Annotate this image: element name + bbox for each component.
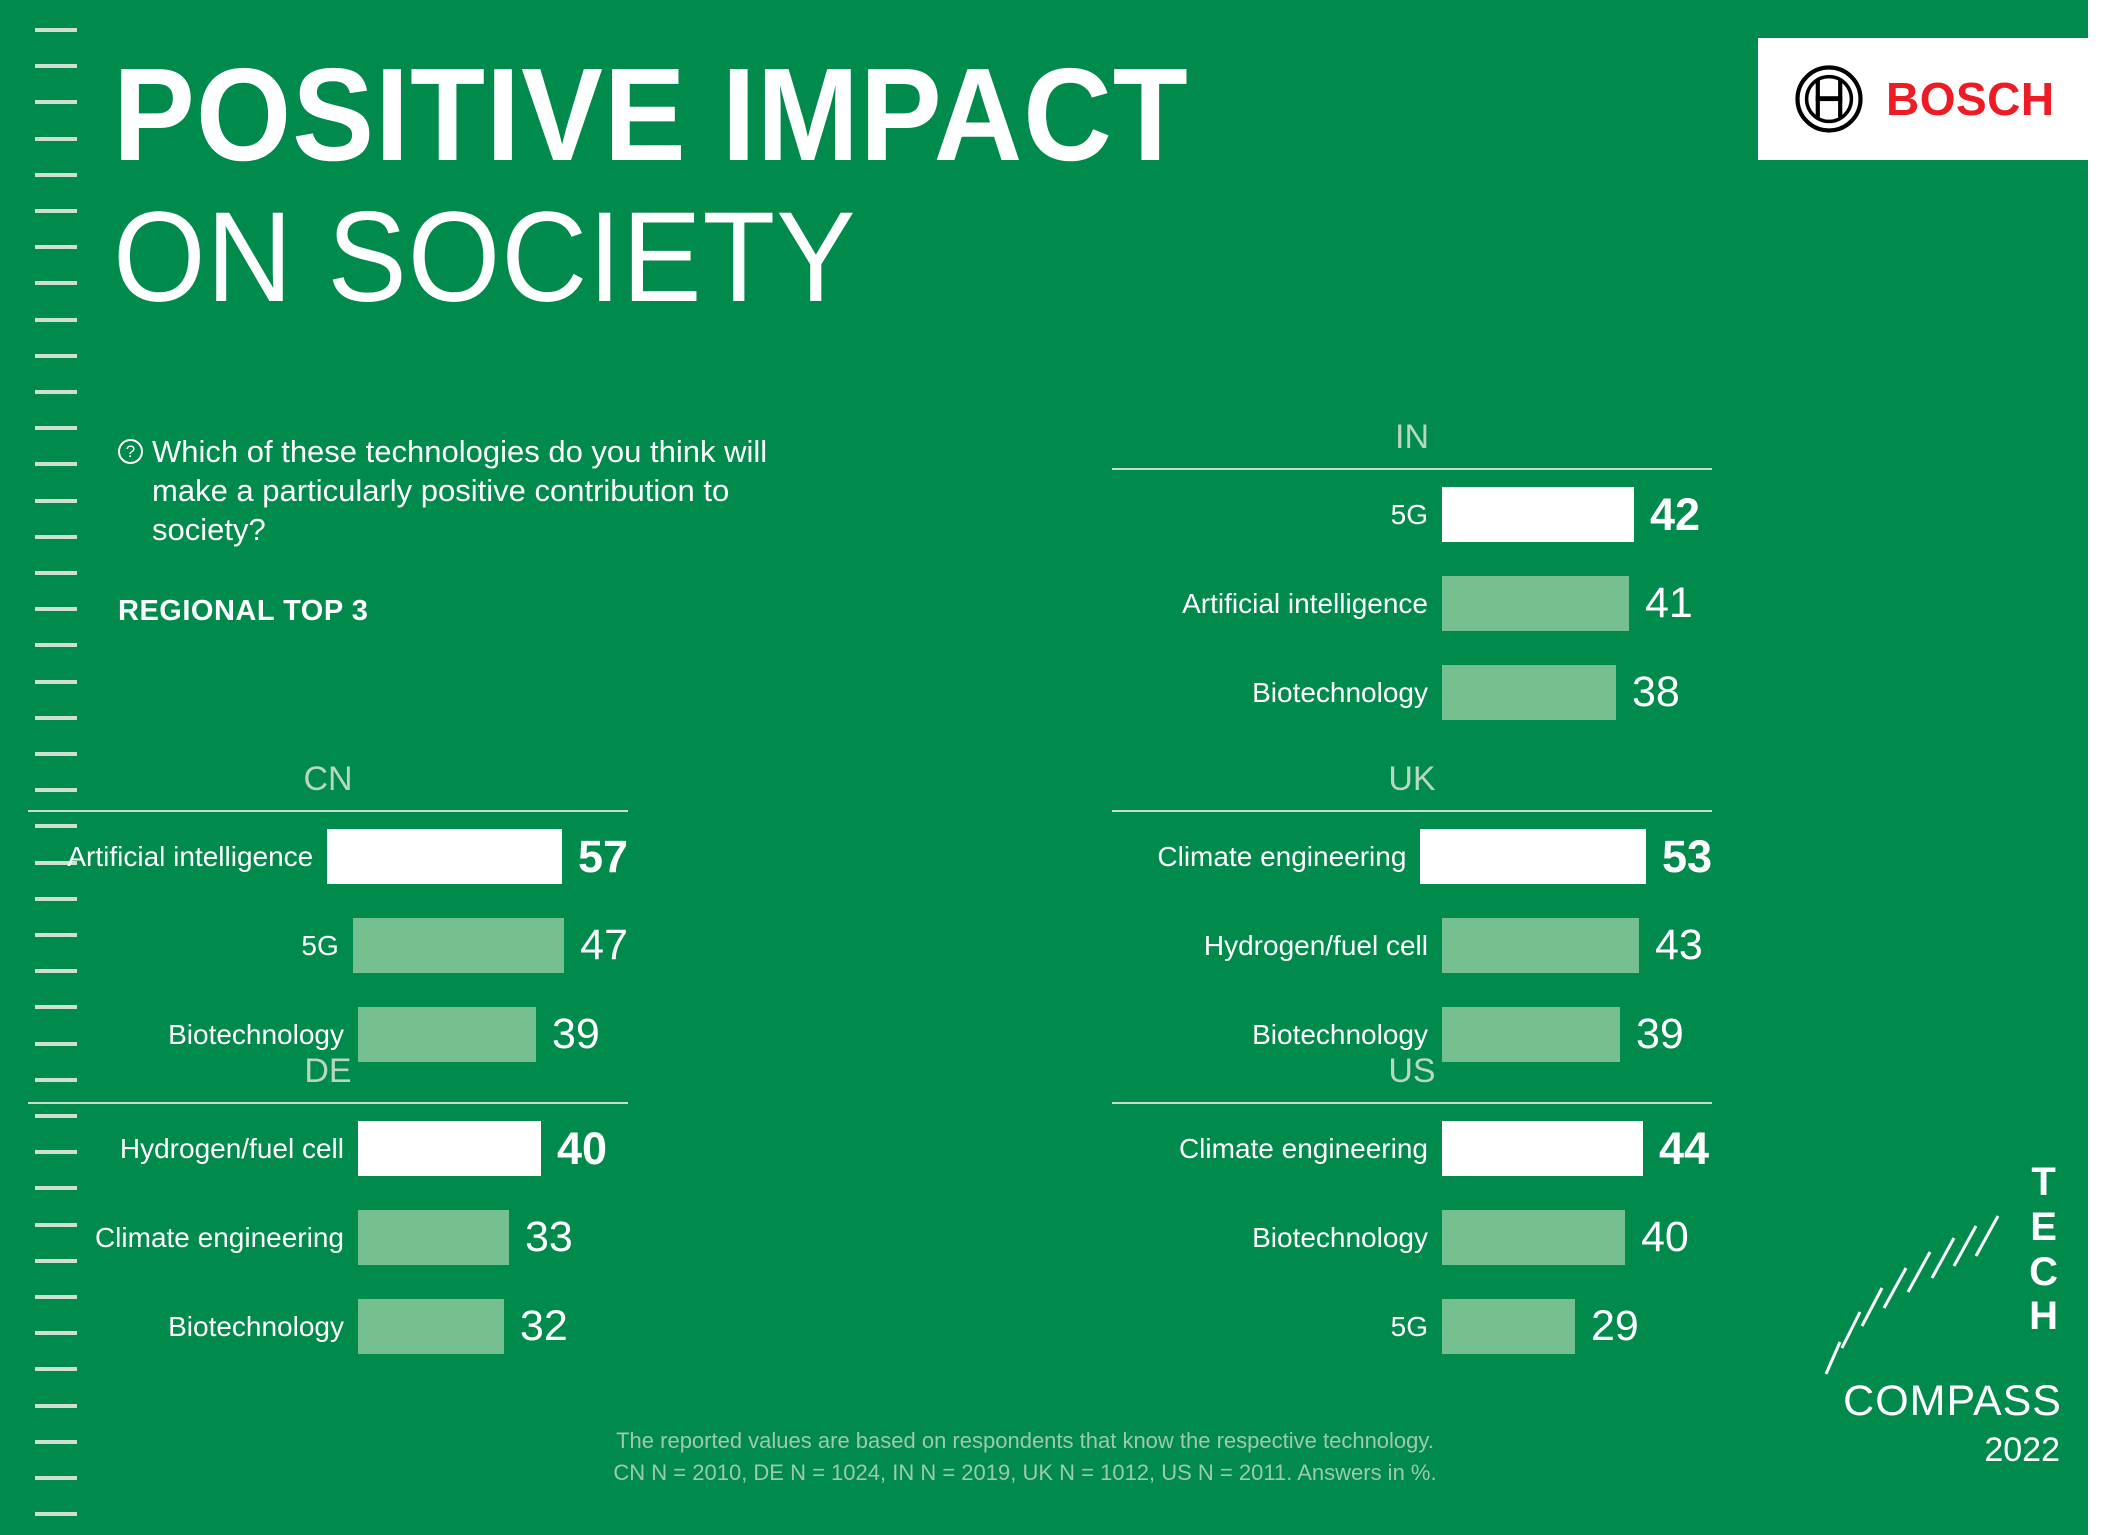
bar-track <box>353 918 564 973</box>
bosch-wordmark: BOSCH <box>1886 72 2055 126</box>
bar-row: Hydrogen/fuel cell43 <box>1112 901 1712 990</box>
bar-category-label: Biotechnology <box>1112 1222 1442 1254</box>
bar-fill <box>353 918 564 973</box>
bar-track <box>358 1210 509 1265</box>
bar-track <box>358 1299 504 1354</box>
bar-fill <box>1442 1121 1643 1176</box>
bar-fill <box>1442 918 1639 973</box>
bar-fill <box>327 829 562 884</box>
ruler-tick <box>35 64 77 68</box>
page-title: POSITIVE IMPACT ON SOCIETY <box>113 48 1413 325</box>
question-mark-circle-icon: ? <box>118 439 143 464</box>
bar-category-label: Biotechnology <box>1112 1019 1442 1051</box>
ruler-tick <box>35 28 77 32</box>
bar-fill <box>1442 576 1629 631</box>
group-header-uk: UK <box>1112 760 1712 812</box>
bar-category-label: Artificial intelligence <box>1112 588 1442 620</box>
ruler-tick <box>35 209 77 213</box>
bar-track <box>1442 665 1616 720</box>
country-code-label: DE <box>28 1052 628 1091</box>
group-divider <box>1112 810 1712 812</box>
bar-value-label: 32 <box>504 1302 568 1351</box>
chart-group-uk: UKClimate engineering53Hydrogen/fuel cel… <box>1112 760 1712 1079</box>
bar-value-label: 40 <box>541 1123 607 1175</box>
group-divider <box>1112 1102 1712 1104</box>
ruler-tick <box>35 535 77 539</box>
footnote-line-2: CN N = 2010, DE N = 1024, IN N = 2019, U… <box>0 1457 2050 1489</box>
bar-category-label: 5G <box>1112 1311 1442 1343</box>
ruler-tick <box>35 716 77 720</box>
country-code-label: US <box>1112 1052 1712 1091</box>
ruler-tick <box>35 100 77 104</box>
ruler-tick <box>35 499 77 503</box>
infographic-poster: POSITIVE IMPACT ON SOCIETY ? Which of th… <box>0 0 2088 1535</box>
country-code-label: UK <box>1112 760 1712 799</box>
tech-letter-e: E <box>2029 1205 2058 1250</box>
bar-track <box>1442 576 1629 631</box>
ruler-tick <box>35 390 77 394</box>
bar-row: 5G42 <box>1112 470 1712 559</box>
group-divider <box>28 1102 628 1104</box>
bar-track <box>327 829 562 884</box>
bar-track <box>1442 1210 1625 1265</box>
bar-fill <box>358 1121 541 1176</box>
ruler-tick <box>35 173 77 177</box>
bar-row: 5G47 <box>28 901 628 990</box>
bar-row: 5G29 <box>1112 1282 1712 1371</box>
regional-top-subhead: REGIONAL TOP 3 <box>118 595 818 628</box>
group-header-cn: CN <box>28 760 628 812</box>
country-code-label: CN <box>28 760 628 799</box>
question-text: Which of these technologies do you think… <box>152 432 818 549</box>
ruler-tick <box>35 752 77 756</box>
bar-track <box>1442 918 1639 973</box>
bar-track <box>1442 487 1634 542</box>
bar-value-label: 57 <box>562 831 628 883</box>
bar-fill <box>1442 487 1634 542</box>
footnote: The reported values are based on respond… <box>0 1425 2050 1489</box>
compass-rays-icon <box>1820 1208 2020 1398</box>
group-header-in: IN <box>1112 418 1712 470</box>
tech-letters: T E C H <box>2029 1160 2058 1339</box>
right-white-margin <box>2088 0 2126 1535</box>
bar-value-label: 43 <box>1639 921 1703 970</box>
bar-row: Climate engineering33 <box>28 1193 628 1282</box>
bar-category-label: 5G <box>28 930 353 962</box>
ruler-tick <box>35 245 77 249</box>
chart-group-in: IN5G42Artificial intelligence41Biotechno… <box>1112 418 1712 737</box>
ruler-tick <box>35 354 77 358</box>
bar-row: Biotechnology40 <box>1112 1193 1712 1282</box>
ruler-tick <box>35 462 77 466</box>
tech-compass-logo: T E C H COMPASS 2022 <box>1820 1160 2070 1470</box>
bar-category-label: 5G <box>1112 499 1442 531</box>
ruler-tick <box>35 137 77 141</box>
bar-value-label: 38 <box>1616 668 1680 717</box>
ruler-tick <box>35 318 77 322</box>
bar-category-label: Climate engineering <box>28 1222 358 1254</box>
ruler-tick <box>35 571 77 575</box>
bar-fill <box>1442 1299 1575 1354</box>
bar-track <box>1442 1299 1575 1354</box>
bar-fill <box>1420 829 1646 884</box>
bar-category-label: Biotechnology <box>28 1311 358 1343</box>
bar-value-label: 42 <box>1634 489 1700 541</box>
bar-fill <box>1442 665 1616 720</box>
group-divider <box>1112 468 1712 470</box>
bar-value-label: 29 <box>1575 1302 1639 1351</box>
chart-group-cn: CNArtificial intelligence575G47Biotechno… <box>28 760 628 1079</box>
bar-value-label: 44 <box>1643 1123 1709 1175</box>
headline-line-1: POSITIVE IMPACT <box>113 48 1322 183</box>
bar-category-label: Biotechnology <box>1112 677 1442 709</box>
bar-value-label: 53 <box>1646 831 1712 883</box>
headline-line-2: ON SOCIETY <box>113 191 1322 325</box>
bar-track <box>358 1121 541 1176</box>
ruler-tick <box>35 1404 77 1408</box>
bar-value-label: 41 <box>1629 579 1693 628</box>
bar-value-label: 47 <box>564 921 628 970</box>
bar-category-label: Hydrogen/fuel cell <box>28 1133 358 1165</box>
bar-category-label: Hydrogen/fuel cell <box>1112 930 1442 962</box>
bar-value-label: 33 <box>509 1213 573 1262</box>
bar-row: Biotechnology38 <box>1112 648 1712 737</box>
bar-category-label: Biotechnology <box>28 1019 358 1051</box>
ruler-tick <box>35 281 77 285</box>
bar-row: Hydrogen/fuel cell40 <box>28 1104 628 1193</box>
compass-wordmark: COMPASS <box>1843 1377 2062 1426</box>
bar-category-label: Climate engineering <box>1112 841 1420 873</box>
question-row: ? Which of these technologies do you thi… <box>118 432 818 549</box>
bar-value-label: 40 <box>1625 1213 1689 1262</box>
group-header-us: US <box>1112 1052 1712 1104</box>
tech-letter-t: T <box>2029 1160 2058 1205</box>
chart-group-us: USClimate engineering44Biotechnology405G… <box>1112 1052 1712 1371</box>
ruler-tick <box>35 426 77 430</box>
ruler-tick <box>35 643 77 647</box>
group-header-de: DE <box>28 1052 628 1104</box>
bar-category-label: Artificial intelligence <box>28 841 327 873</box>
footnote-line-1: The reported values are based on respond… <box>0 1425 2050 1457</box>
bar-category-label: Climate engineering <box>1112 1133 1442 1165</box>
bar-fill <box>1442 1210 1625 1265</box>
ruler-tick <box>35 607 77 611</box>
bar-row: Artificial intelligence41 <box>1112 559 1712 648</box>
ruler-tick <box>35 1512 77 1516</box>
question-block: ? Which of these technologies do you thi… <box>118 432 818 628</box>
country-code-label: IN <box>1112 418 1712 457</box>
chart-group-de: DEHydrogen/fuel cell40Climate engineerin… <box>28 1052 628 1371</box>
bar-row: Climate engineering53 <box>1112 812 1712 901</box>
tech-letter-h: H <box>2029 1294 2058 1339</box>
bar-row: Artificial intelligence57 <box>28 812 628 901</box>
group-divider <box>28 810 628 812</box>
ruler-tick <box>35 680 77 684</box>
bosch-symbol-icon <box>1794 64 1864 134</box>
bar-track <box>1420 829 1646 884</box>
bosch-logo: BOSCH <box>1758 38 2088 160</box>
bar-row: Climate engineering44 <box>1112 1104 1712 1193</box>
bar-track <box>1442 1121 1643 1176</box>
bar-fill <box>358 1299 504 1354</box>
bar-fill <box>358 1210 509 1265</box>
tech-letter-c: C <box>2029 1250 2058 1295</box>
bar-row: Biotechnology32 <box>28 1282 628 1371</box>
